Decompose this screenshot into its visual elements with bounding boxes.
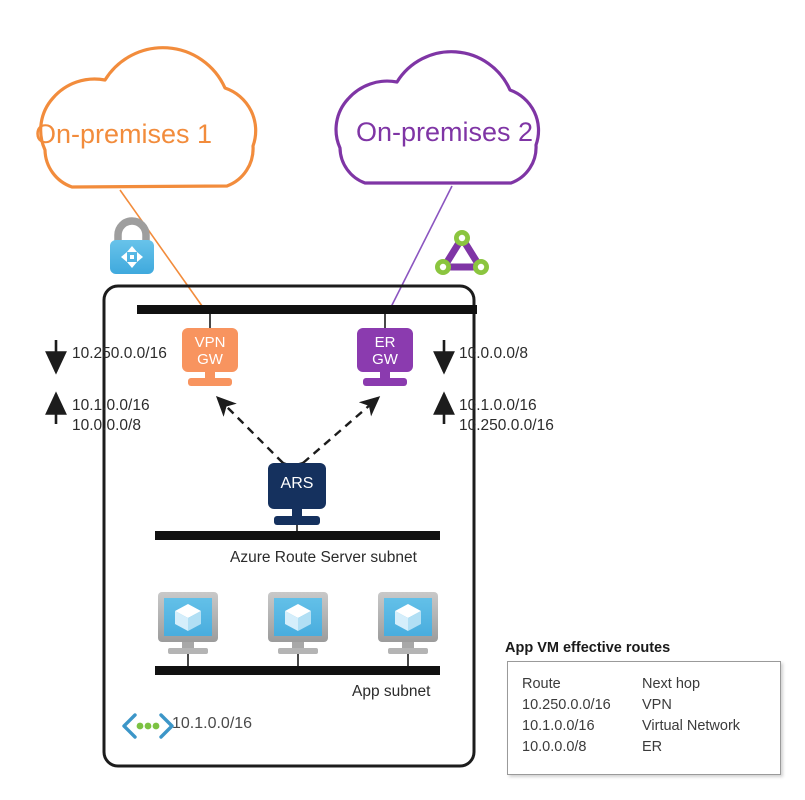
routes-table-cell-next-hop-2: ER [642,737,662,758]
virtual-network-icon [124,715,172,737]
app-subnet-label: App subnet [352,683,430,701]
routes-table-cell-next-hop-0: VPN [642,695,672,716]
bgp-peering-vpn [218,398,283,463]
app-vm-1-icon[interactable] [158,592,218,669]
er-gateway-label-line2: GW [357,351,413,368]
routes-table-header-row: Route Next hop [522,674,772,695]
left-up-route-label-2: 10.0.0.0/8 [72,416,141,435]
routes-table-cell-next-hop-1: Virtual Network [642,716,740,737]
routes-table-cell-route-1: 10.1.0.0/16 [522,716,595,737]
expressroute-icon [435,230,489,275]
app-subnet-bar [155,666,440,675]
routes-table-header-next-hop: Next hop [642,674,700,695]
azure-route-server-icon[interactable] [268,463,326,525]
cloud-on-premises-1 [41,48,256,187]
left-down-route-label: 10.250.0.0/16 [72,344,167,363]
vpn-gateway-label-line2: GW [182,351,238,368]
table-row: 10.1.0.0/16 Virtual Network [522,716,772,737]
azure-route-server-label: ARS [268,475,326,492]
vpn-gateway-label: VPN GW [182,334,238,368]
gateway-subnet-bar [137,305,477,314]
routes-table-body: Route Next hop 10.250.0.0/16 VPN 10.1.0.… [522,674,772,758]
routes-table-title: App VM effective routes [505,640,670,656]
route-server-subnet-label: Azure Route Server subnet [230,549,417,567]
cloud-label-on-premises-2: On-premises 2 [356,117,533,148]
left-up-route-label-1: 10.1.0.0/16 [72,396,150,415]
right-down-route-label: 10.0.0.0/8 [459,344,528,363]
routes-table-header-route: Route [522,674,561,695]
routes-table-cell-route-0: 10.250.0.0/16 [522,695,611,716]
link-onprem2-to-er-gw [388,186,452,313]
right-up-route-label-1: 10.1.0.0/16 [459,396,537,415]
table-row: 10.250.0.0/16 VPN [522,695,772,716]
vpn-gateway-label-line1: VPN [182,334,238,351]
app-vm-3-icon[interactable] [378,592,438,669]
routes-table-cell-route-2: 10.0.0.0/8 [522,737,587,758]
app-vm-2-icon[interactable] [268,592,328,669]
bgp-peering-er [303,398,378,463]
er-gateway-label: ER GW [357,334,413,368]
routes-table: Route Next hop 10.250.0.0/16 VPN 10.1.0.… [507,661,781,775]
right-up-route-label-2: 10.250.0.0/16 [459,416,554,435]
table-row: 10.0.0.0/8 ER [522,737,772,758]
diagram-canvas: On-premises 1 On-premises 2 VPN GW ER GW… [0,0,805,800]
virtual-network-cidr-label: 10.1.0.0/16 [172,715,252,733]
route-server-subnet-bar [155,531,440,540]
er-gateway-label-line1: ER [357,334,413,351]
cloud-label-on-premises-1: On-premises 1 [35,119,212,150]
vpn-lock-icon [110,221,154,274]
